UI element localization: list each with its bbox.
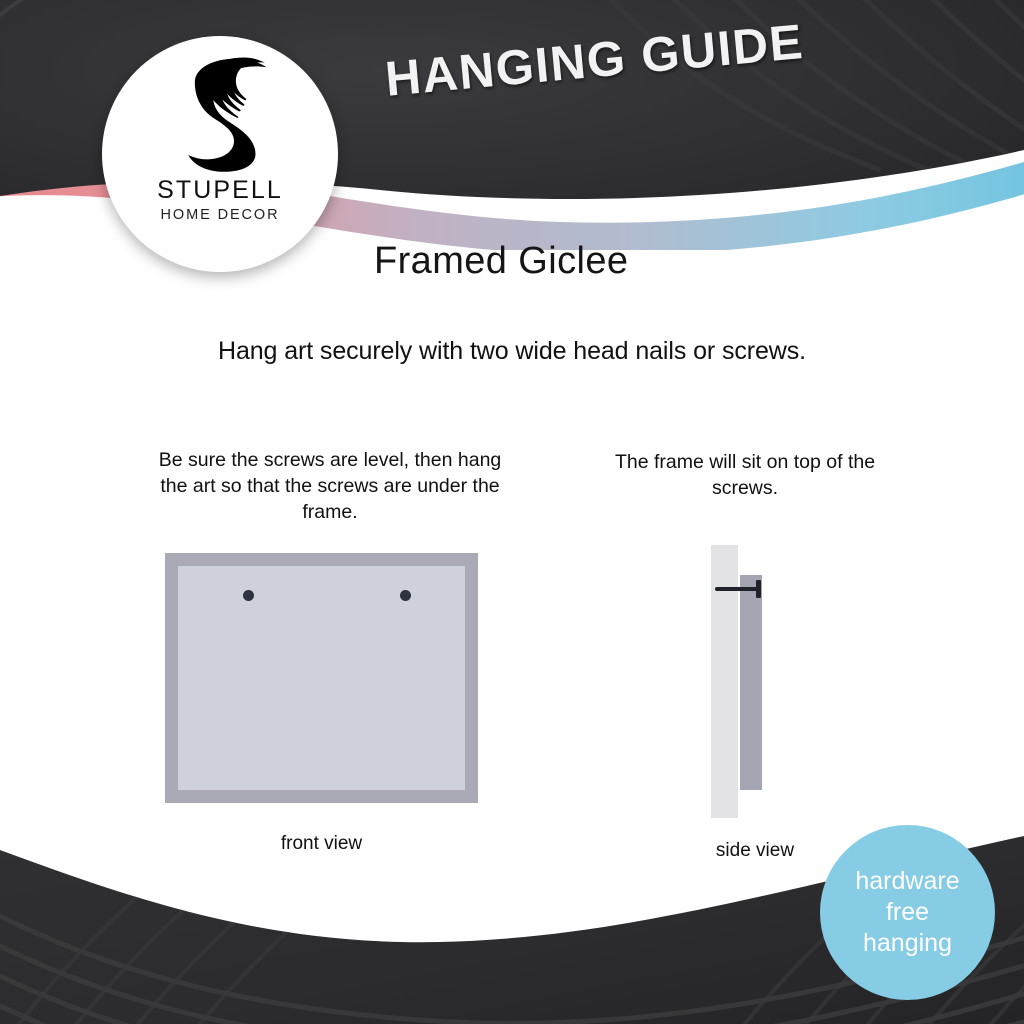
badge-line-1: hardware <box>855 866 959 897</box>
product-title: Framed Giclee <box>374 240 628 283</box>
brand-name: STUPELL <box>157 176 283 205</box>
front-view-artwork <box>178 566 465 790</box>
brand-tagline: HOME DECOR <box>161 207 280 223</box>
side-view-frame <box>740 575 762 790</box>
nail-shaft-icon <box>715 587 759 591</box>
badge-line-2: free <box>886 897 929 928</box>
hanging-guide-page: HANGING GUIDE STUPELL HOME DECOR Framed … <box>0 0 1024 1024</box>
instruction-front-view: Be sure the screws are level, then hang … <box>150 447 510 525</box>
lead-instruction: Hang art securely with two wide head nai… <box>0 337 1024 366</box>
badge-line-3: hanging <box>863 928 952 959</box>
front-view-diagram <box>165 553 478 803</box>
screw-dot-right <box>400 590 411 601</box>
side-view-diagram <box>700 545 810 825</box>
instruction-side-view: The frame will sit on top of the screws. <box>585 449 905 501</box>
side-view-wall <box>711 545 738 818</box>
stupell-s-swoosh-logo-icon <box>164 54 276 172</box>
nail-head-icon <box>756 580 761 598</box>
hardware-free-badge: hardware free hanging <box>820 825 995 1000</box>
screw-dot-left <box>243 590 254 601</box>
brand-logo-badge: STUPELL HOME DECOR <box>102 36 338 272</box>
